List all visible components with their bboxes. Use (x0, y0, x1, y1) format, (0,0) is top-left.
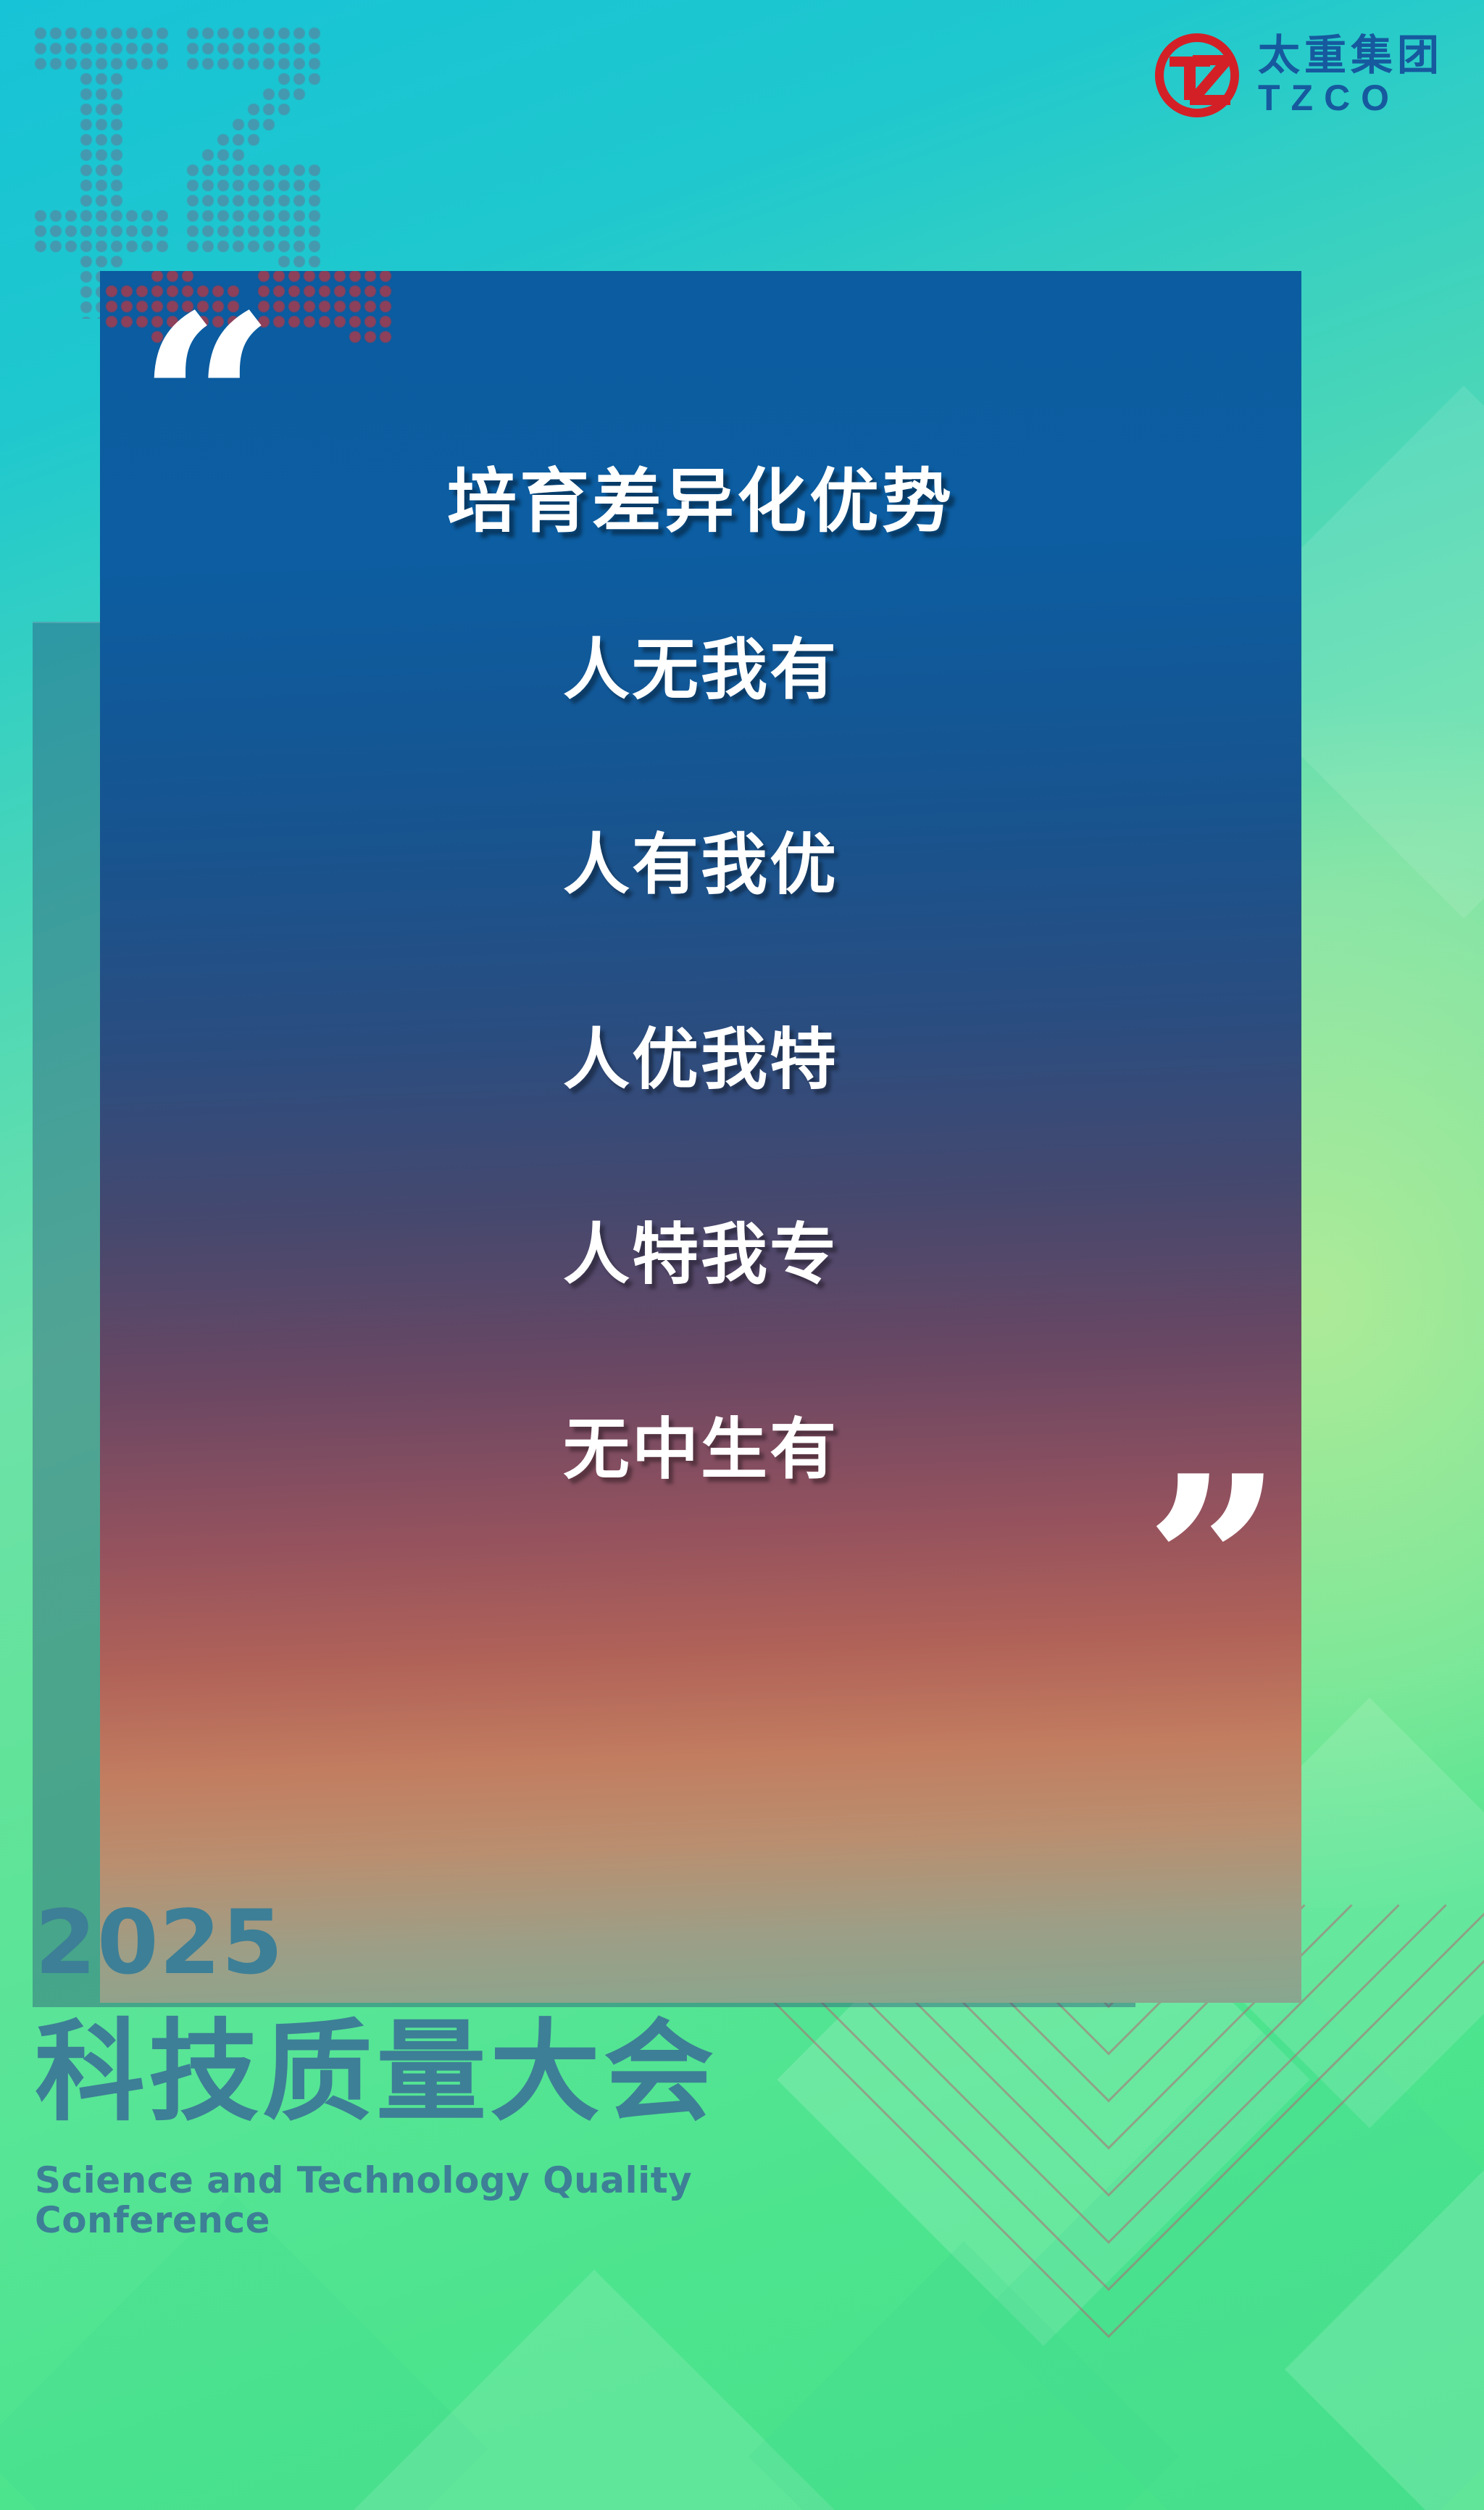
quote-line-5: 无中生有 (100, 1413, 1301, 1486)
quote-headline: 培育差异化优势 (100, 464, 1301, 541)
footer-block: 2025 科技质量大会 Science and Technology Quali… (35, 1898, 904, 2240)
quote-text-block: 培育差异化优势 人无我有 人有我优 人优我特 人特我专 无中生有 (100, 464, 1301, 1487)
company-name-en: TZCO (1258, 79, 1443, 117)
quote-line-1: 人无我有 (100, 633, 1301, 706)
quote-line-4: 人特我专 (100, 1218, 1301, 1291)
company-name-cn: 太重集团 (1258, 34, 1443, 76)
company-logo: 太重集团 TZCO (1149, 28, 1443, 123)
quote-line-3: 人优我特 (100, 1023, 1301, 1096)
logo-text-block: 太重集团 TZCO (1258, 34, 1443, 117)
conference-year: 2025 (35, 1898, 904, 1987)
quote-line-2: 人有我优 (100, 828, 1301, 901)
conference-title-cn: 科技质量大会 (35, 2013, 904, 2132)
poster-root: 太重集团 TZCO “ ” 培育差异化优势 人无我有 人有我优 人优我特 人特我… (0, 0, 1484, 2510)
tz-circle-icon (1149, 28, 1245, 123)
conference-title-en: Science and Technology Quality Conferenc… (35, 2161, 904, 2240)
quote-close-icon: ” (1145, 1478, 1283, 1651)
